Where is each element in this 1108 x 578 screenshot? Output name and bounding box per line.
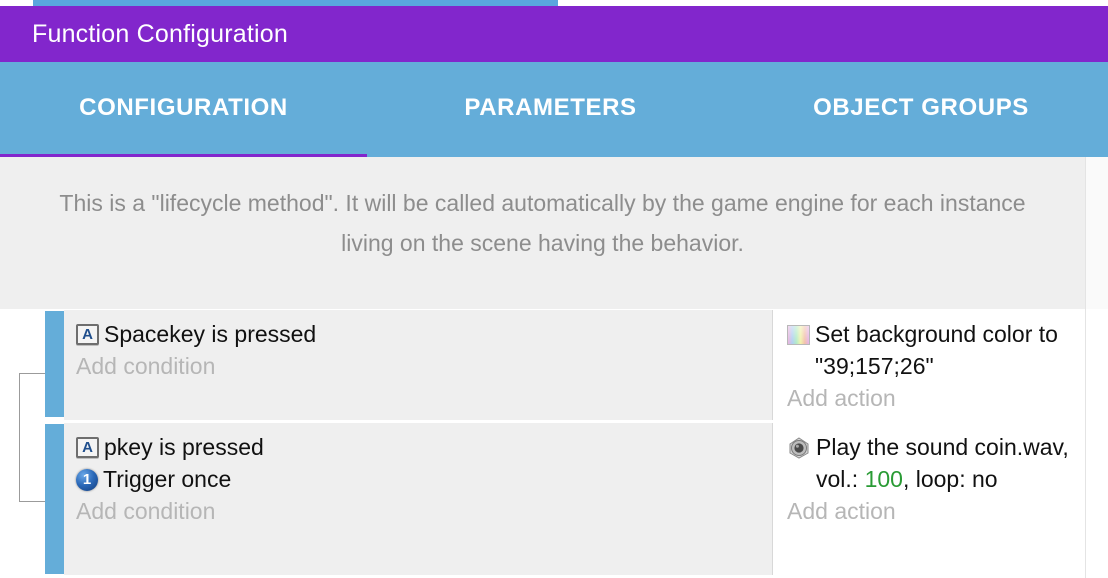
event-row-grip-2[interactable] [45, 424, 64, 574]
event-row-grip-1[interactable] [45, 311, 64, 417]
add-condition-placeholder-2[interactable]: Add condition [76, 495, 772, 527]
function-configuration-dialog: Function Configuration CONFIGURATION PAR… [0, 0, 1108, 578]
add-condition-placeholder-1[interactable]: Add condition [76, 350, 772, 382]
keyboard-key-icon: A [76, 437, 99, 458]
add-action-placeholder-2[interactable]: Add action [787, 495, 1085, 527]
page-title: Function Configuration [0, 20, 288, 49]
add-action-placeholder-1[interactable]: Add action [787, 382, 1085, 414]
conditions-column-1[interactable]: A Space key is pressed Add condition [64, 310, 772, 420]
tab-configuration[interactable]: CONFIGURATION [0, 62, 367, 154]
description-scroll-gutter[interactable] [1085, 157, 1108, 309]
tab-object-groups[interactable]: OBJECT GROUPS [734, 62, 1108, 154]
action-text-suffix: , loop: no [903, 466, 998, 492]
conditions-column-2[interactable]: A p key is pressed 1 Trigger once Add co… [64, 423, 772, 575]
condition-subject: Space [104, 318, 169, 350]
tab-parameters[interactable]: PARAMETERS [367, 62, 734, 154]
actions-column-1[interactable]: Set background color to "39;157;26" Add … [772, 310, 1085, 420]
condition-text: Trigger once [103, 463, 231, 495]
action-item[interactable]: Play the sound coin.wav, vol.: 100, loop… [787, 431, 1085, 495]
condition-item[interactable]: A p key is pressed [76, 431, 772, 463]
condition-item[interactable]: A Space key is pressed [76, 318, 772, 350]
color-swatch-icon [787, 325, 810, 345]
keyboard-key-icon: A [76, 324, 99, 345]
condition-text: key is pressed [117, 431, 264, 463]
trigger-once-icon: 1 [76, 469, 98, 491]
speaker-icon [787, 437, 811, 459]
condition-subject: p [104, 431, 117, 463]
action-volume-value: 100 [865, 466, 903, 492]
events-scroll-gutter[interactable] [1085, 309, 1108, 578]
action-text-group: Play the sound coin.wav, vol.: 100, loop… [816, 431, 1085, 495]
condition-text: key is pressed [169, 318, 316, 350]
event-tree-bracket [19, 373, 46, 502]
dialog-title-bar: Function Configuration [0, 6, 1108, 62]
tab-bar: CONFIGURATION PARAMETERS OBJECT GROUPS [0, 62, 1108, 157]
action-text: Set background color to "39;157;26" [815, 318, 1085, 382]
action-item[interactable]: Set background color to "39;157;26" [787, 318, 1085, 382]
condition-item[interactable]: 1 Trigger once [76, 463, 772, 495]
lifecycle-description-text: This is a "lifecycle method". It will be… [38, 183, 1048, 263]
lifecycle-description-panel: This is a "lifecycle method". It will be… [0, 157, 1085, 309]
actions-column-2[interactable]: Play the sound coin.wav, vol.: 100, loop… [772, 423, 1085, 575]
